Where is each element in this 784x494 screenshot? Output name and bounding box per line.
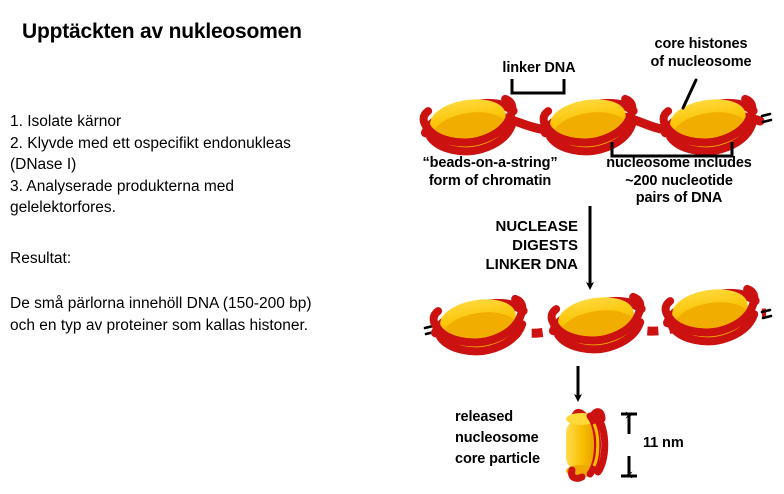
nucleosome-bead <box>421 93 518 158</box>
method-step-1: 1. Isolate kärnor <box>10 111 410 133</box>
nucleosome-core-particle <box>663 283 760 348</box>
label-nucleosome-includes-line1: nucleosome includes <box>584 155 774 173</box>
label-nuclease-line2: DIGESTS <box>448 236 578 255</box>
nucleosome-diagram: linker DNA core histones of nucleosome “… <box>400 0 784 494</box>
label-nucleosome-includes: nucleosome includes ~200 nucleotide pair… <box>584 155 774 208</box>
nucleosome-bead <box>541 93 638 158</box>
dimension-11nm <box>621 414 637 476</box>
label-nuclease-digests: NUCLEASE DIGESTS LINKER DNA <box>448 217 578 274</box>
label-core-histones-line1: core histones <box>618 36 784 54</box>
label-released-line2: nucleosome <box>455 428 575 449</box>
method-step-2-cont: (DNase I) <box>10 154 410 176</box>
method-step-2: 2. Klyvde med ett ospecifikt endonukleas <box>10 133 410 155</box>
label-beads-on-a-string: “beads-on-a-string” form of chromatin <box>400 155 580 190</box>
nucleosome-core-particle <box>549 291 646 356</box>
label-dimension-11nm: 11 nm <box>643 435 684 453</box>
result-line-2: och en typ av proteiner som kallas histo… <box>10 315 410 337</box>
label-nuclease-line3: LINKER DNA <box>448 255 578 274</box>
method-step-3-cont: gelelektorfores. <box>10 197 410 219</box>
label-beads-line2: form of chromatin <box>400 173 580 191</box>
label-released-core-particle: released nucleosome core particle <box>455 407 575 470</box>
method-steps-list: 1. Isolate kärnor 2. Klyvde med ett ospe… <box>10 111 410 219</box>
result-line-1: De små pärlorna innehöll DNA (150-200 bp… <box>10 293 410 315</box>
label-beads-line1: “beads-on-a-string” <box>400 155 580 173</box>
label-released-line3: core particle <box>455 449 575 470</box>
result-heading: Resultat: <box>10 250 71 268</box>
result-body: De små pärlorna innehöll DNA (150-200 bp… <box>10 293 410 336</box>
chromatin-strand-digested <box>425 283 771 358</box>
label-linker-dna: linker DNA <box>482 60 596 78</box>
nucleosome-core-particle <box>431 293 528 358</box>
label-nucleosome-includes-line3: pairs of DNA <box>584 190 774 208</box>
label-core-histones: core histones of nucleosome <box>618 36 784 71</box>
label-core-histones-line2: of nucleosome <box>618 54 784 72</box>
page-title: Upptäckten av nukleosomen <box>22 20 302 44</box>
nucleosome-bead <box>661 93 758 158</box>
label-released-line1: released <box>455 407 575 428</box>
linker-dna-bracket <box>512 79 564 93</box>
label-nucleosome-includes-line2: ~200 nucleotide <box>584 173 774 191</box>
method-step-3: 3. Analyserade produkterna med <box>10 176 410 198</box>
label-nuclease-line1: NUCLEASE <box>448 217 578 236</box>
chromatin-strand-beads-on-a-string <box>421 93 771 158</box>
